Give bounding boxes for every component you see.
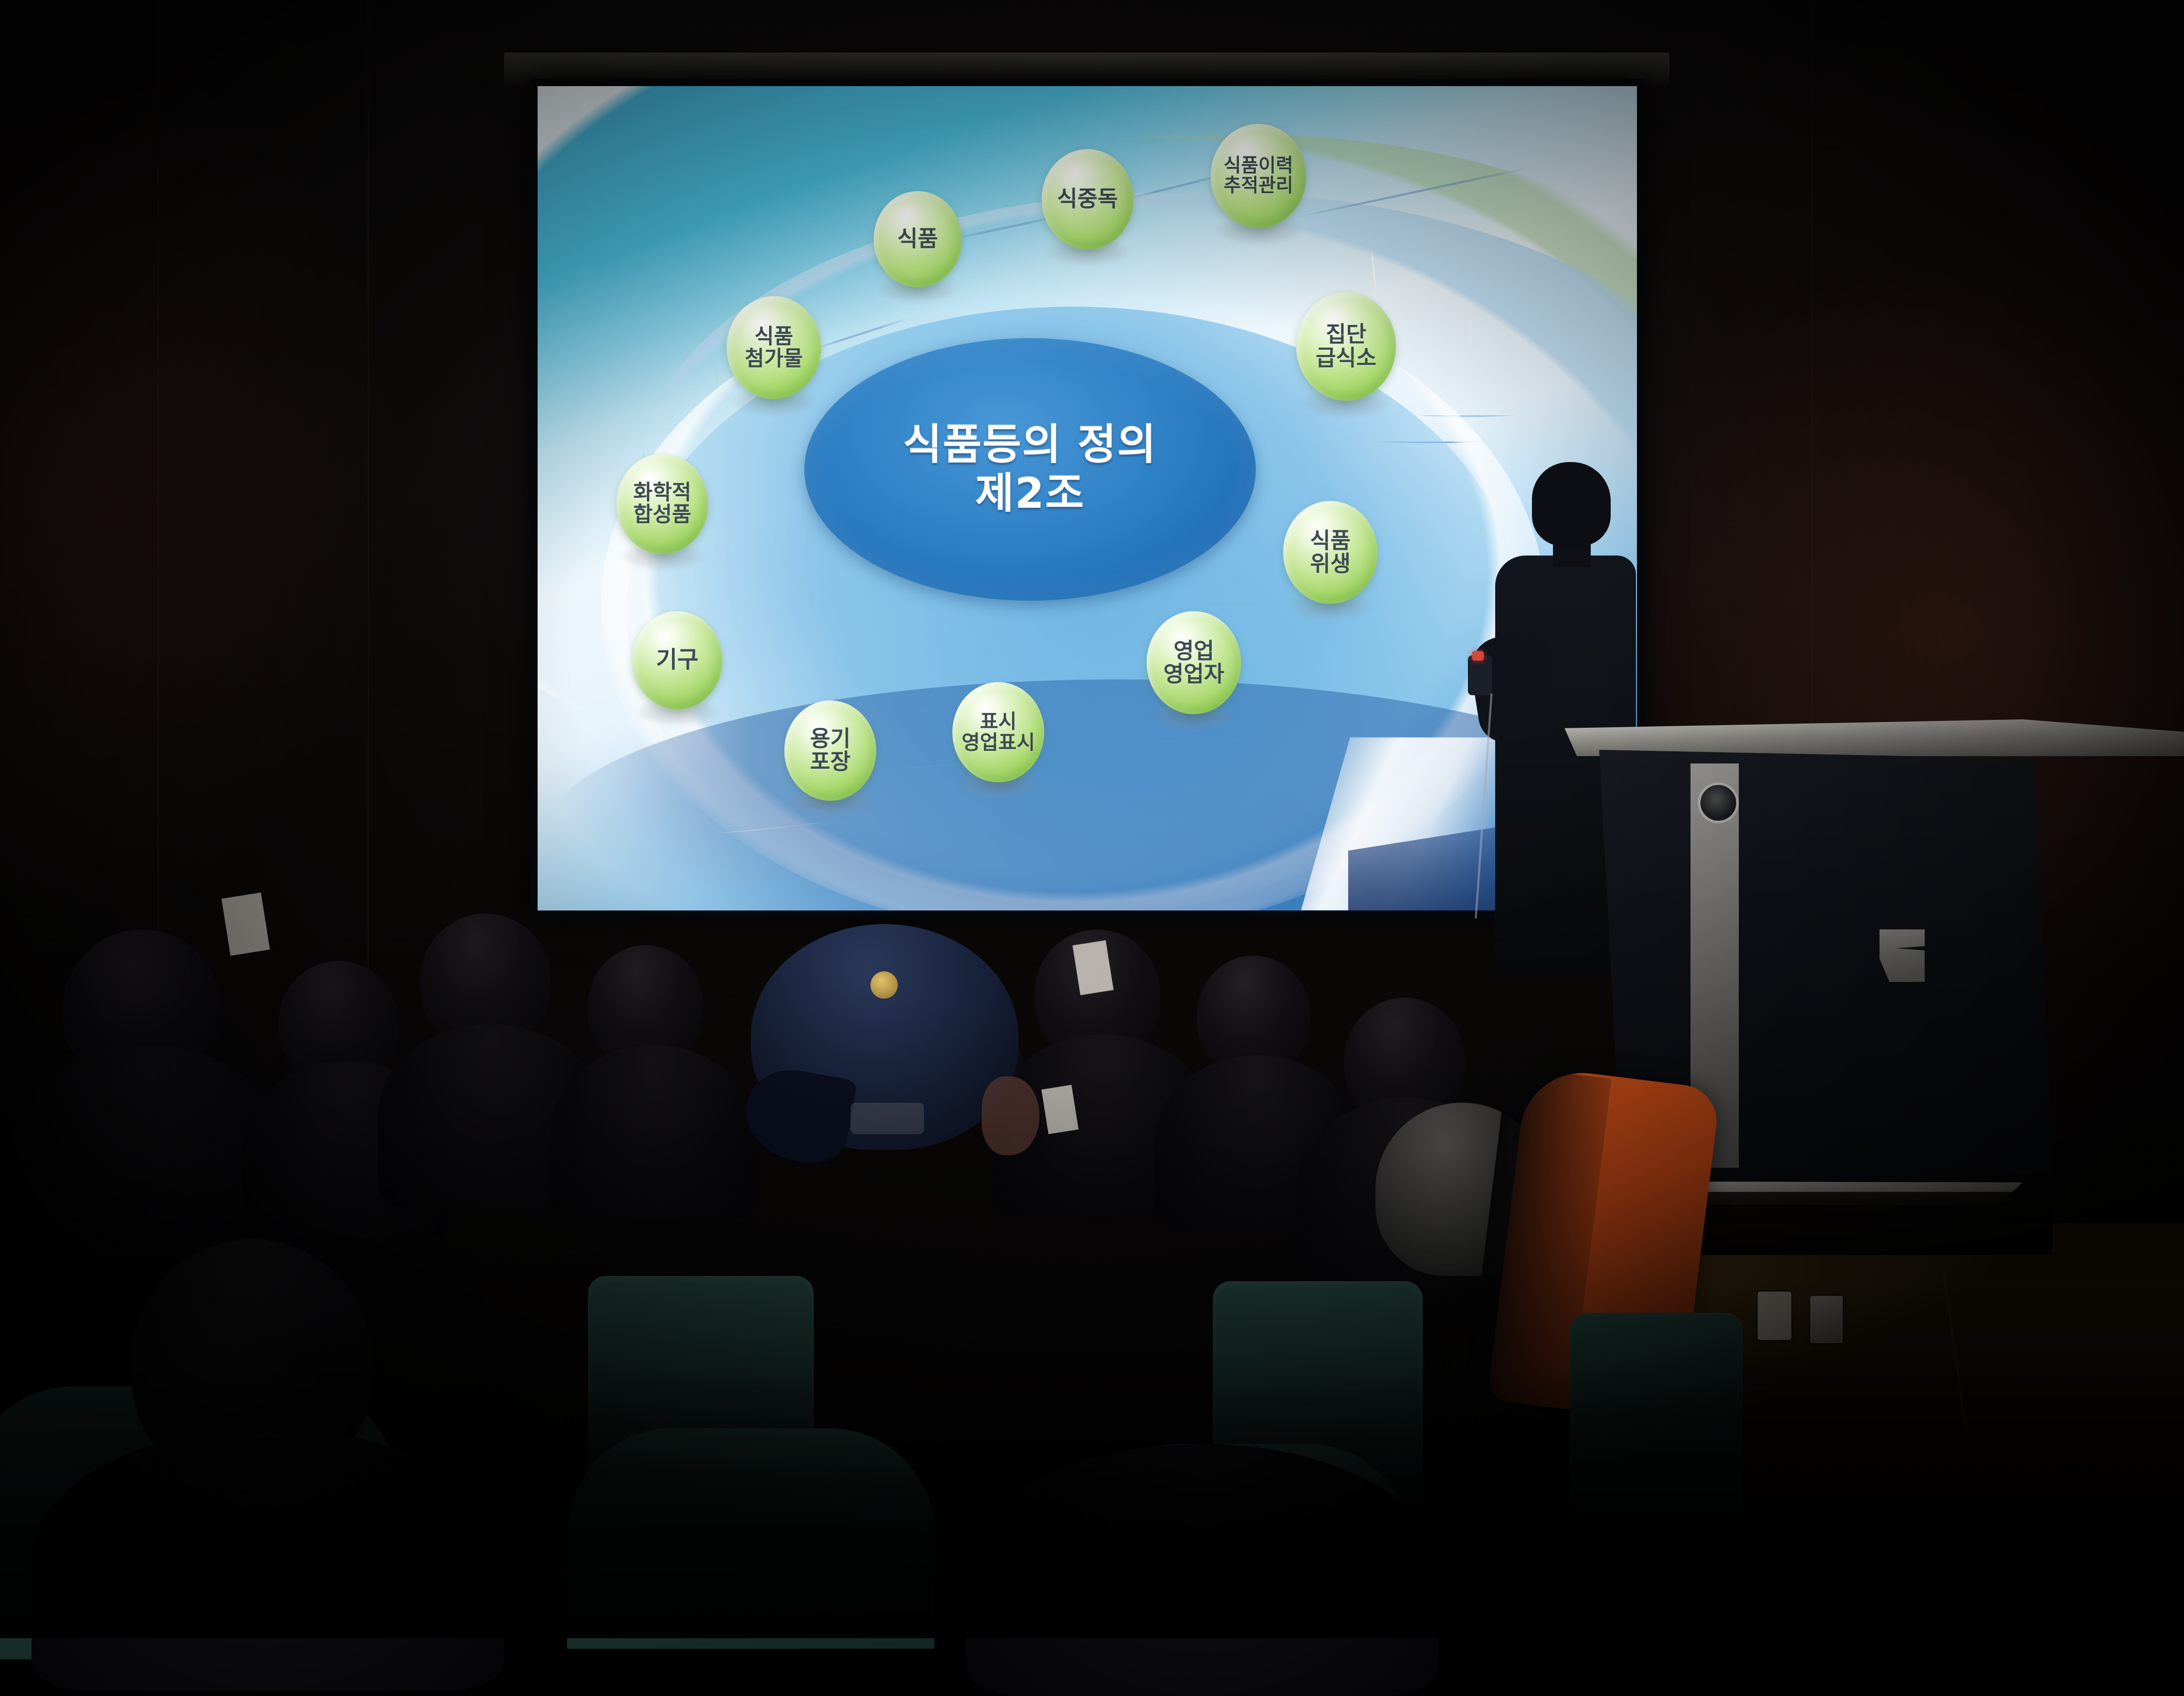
slide-bubble-food-poison: 식중독 bbox=[1042, 149, 1133, 249]
projected-slide: 식품등의 정의 제2조 식품식중독식품이력 추적관리집단 급식소식품 첨가물식품… bbox=[538, 86, 1637, 910]
slide-bubble-group-meal: 집단 급식소 bbox=[1296, 292, 1396, 401]
audience-ear bbox=[982, 1076, 1039, 1155]
auditorium-room: 식품등의 정의 제2조 식품식중독식품이력 추적관리집단 급식소식품 첨가물식품… bbox=[0, 0, 2184, 1638]
slide-bubble-label: 식중독 bbox=[1054, 187, 1121, 211]
wall-seam bbox=[367, 0, 369, 998]
auditorium-seat-front[interactable] bbox=[567, 1428, 934, 1649]
audience-shoulders-front bbox=[966, 1444, 1438, 1696]
slide-bubble-chemical: 화학적 합성품 bbox=[616, 454, 708, 554]
slide-bubble-container: 용기 포장 bbox=[784, 700, 876, 801]
presenter-remote-icon bbox=[1468, 655, 1492, 695]
remote-led-indicator bbox=[1472, 651, 1484, 661]
slide-bubble-label: 식품 bbox=[894, 227, 941, 251]
slide-bubble-label: 식품이력 추적관리 bbox=[1221, 156, 1296, 196]
auditorium-seat[interactable] bbox=[1570, 1313, 1743, 1512]
audience-area bbox=[0, 914, 2184, 1638]
slide-center-oval: 식품등의 정의 제2조 bbox=[804, 338, 1256, 601]
slide-bubble-food-hygiene: 식품 위생 bbox=[1283, 501, 1378, 604]
slide-bubble-apparatus: 기구 bbox=[632, 611, 722, 709]
slide-bubble-labeling: 표시 영업표시 bbox=[952, 682, 1044, 782]
slide-center-title-line1: 식품등의 정의 bbox=[903, 421, 1157, 469]
audience-shoulders bbox=[551, 1045, 756, 1218]
wall-seam bbox=[1811, 0, 1813, 788]
slide-bubble-label: 화학적 합성품 bbox=[630, 481, 694, 526]
cap-strap bbox=[850, 1103, 924, 1134]
slide-bubble-label: 집단 급식소 bbox=[1312, 323, 1380, 370]
seat-paper-tag bbox=[222, 893, 270, 956]
slide-bubble-label: 식품 위생 bbox=[1307, 529, 1353, 576]
slide-bubble-label: 표시 영업표시 bbox=[959, 711, 1038, 753]
slide-bubble-food: 식품 bbox=[874, 191, 962, 287]
presenter-head bbox=[1532, 462, 1611, 546]
slide-bubble-business: 영업 영업자 bbox=[1147, 611, 1241, 714]
slide-bubble-label: 용기 포장 bbox=[807, 727, 854, 774]
slide-bubble-label: 식품 첨가물 bbox=[742, 326, 806, 370]
wall-seam bbox=[157, 0, 159, 945]
cap-button-icon bbox=[870, 971, 898, 999]
podium-top-surface bbox=[1564, 719, 2184, 756]
cap-brim bbox=[739, 1063, 857, 1169]
slide-bubble-traceability: 식품이력 추적관리 bbox=[1211, 124, 1306, 228]
projector-screen-frame: 식품등의 정의 제2조 식품식중독식품이력 추적관리집단 급식소식품 첨가물식품… bbox=[530, 79, 1643, 919]
slide-bubble-label: 영업 영업자 bbox=[1160, 640, 1227, 686]
podium-knob-icon[interactable] bbox=[1698, 782, 1739, 823]
slide-bubble-additive: 식품 첨가물 bbox=[727, 296, 821, 399]
audience-shoulders-front bbox=[31, 1428, 504, 1691]
slide-bubble-label: 기구 bbox=[653, 648, 702, 673]
slide-center-title-line2: 제2조 bbox=[975, 469, 1085, 518]
